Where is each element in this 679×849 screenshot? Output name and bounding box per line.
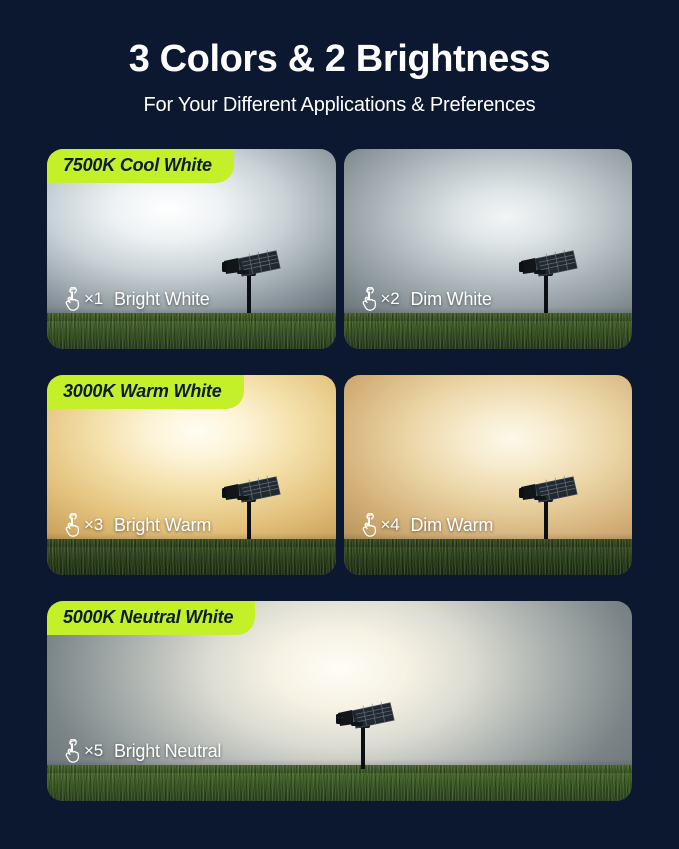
brightness-multiplier: ×1 <box>84 289 103 309</box>
panel-bright-neutral[interactable]: 5000K Neutral White ×5 Bright Neutral <box>47 601 632 801</box>
scene-grass <box>47 765 632 801</box>
badge-warm-white: 3000K Warm White <box>47 375 244 409</box>
panel-dim-white[interactable]: ×2 Dim White <box>344 149 633 349</box>
page-subtitle: For Your Different Applications & Prefer… <box>0 94 679 117</box>
mode-label: Bright Warm <box>114 515 211 536</box>
brightness-multiplier: ×3 <box>84 515 103 535</box>
tap-gesture-icon <box>61 739 83 763</box>
mode-label: Dim White <box>410 289 491 310</box>
panel-bright-warm[interactable]: 3000K Warm White ×3 Bright Warm <box>47 375 336 575</box>
row-neutral-white: 5000K Neutral White ×5 Bright Neutral <box>47 601 632 801</box>
brightness-multiplier: ×2 <box>381 289 400 309</box>
badge-neutral-white: 5000K Neutral White <box>47 601 255 635</box>
color-mode-rows: 7500K Cool White ×1 Bright White <box>47 149 632 827</box>
tap-gesture-icon <box>61 513 83 537</box>
brightness-multiplier: ×5 <box>84 741 103 761</box>
row-warm-white: 3000K Warm White ×3 Bright Warm <box>47 375 632 575</box>
solar-spotlight-icon <box>220 237 282 313</box>
panel-dim-warm[interactable]: ×4 Dim Warm <box>344 375 633 575</box>
scene-grass <box>344 539 633 575</box>
solar-spotlight-icon <box>517 463 579 539</box>
mode-label: Bright White <box>114 289 210 310</box>
solar-spotlight-icon <box>517 237 579 313</box>
caption-dim-warm: ×4 Dim Warm <box>358 513 494 537</box>
solar-spotlight-icon <box>334 689 396 769</box>
mode-label: Dim Warm <box>410 515 493 536</box>
brightness-multiplier: ×4 <box>381 515 400 535</box>
row-cool-white: 7500K Cool White ×1 Bright White <box>47 149 632 349</box>
tap-gesture-icon <box>61 287 83 311</box>
badge-cool-white: 7500K Cool White <box>47 149 234 183</box>
panel-bright-white[interactable]: 7500K Cool White ×1 Bright White <box>47 149 336 349</box>
scene-grass <box>344 313 633 349</box>
caption-dim-white: ×2 Dim White <box>358 287 492 311</box>
caption-bright-white: ×1 Bright White <box>61 287 210 311</box>
scene-grass <box>47 313 336 349</box>
tap-gesture-icon <box>358 513 380 537</box>
tap-gesture-icon <box>358 287 380 311</box>
scene-grass <box>47 539 336 575</box>
caption-bright-neutral: ×5 Bright Neutral <box>61 739 221 763</box>
solar-spotlight-icon <box>220 463 282 539</box>
mode-label: Bright Neutral <box>114 741 221 762</box>
page-title: 3 Colors & 2 Brightness <box>0 40 679 80</box>
header: 3 Colors & 2 Brightness For Your Differe… <box>0 0 679 117</box>
caption-bright-warm: ×3 Bright Warm <box>61 513 211 537</box>
